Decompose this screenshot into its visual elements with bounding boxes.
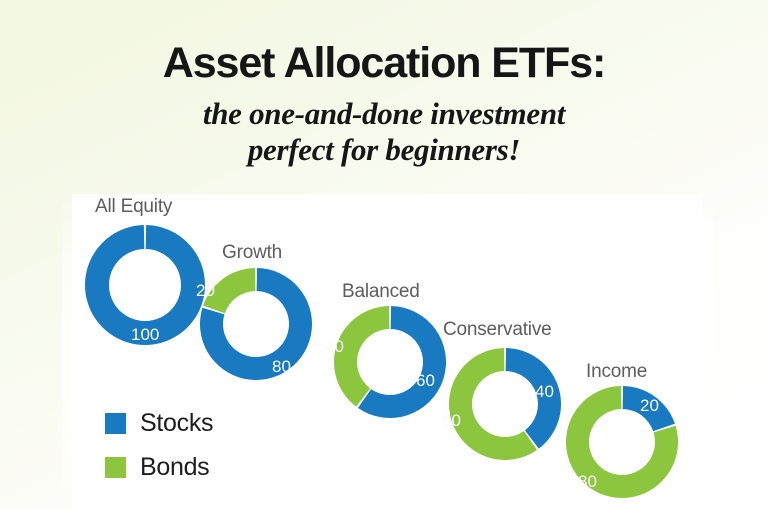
donut-value-bonds-income: 80 bbox=[578, 472, 597, 492]
donut-title-conservative: Conservative bbox=[443, 319, 551, 341]
donut-title-all-equity: All Equity bbox=[95, 196, 172, 218]
donut-value-stocks-all-equity: 100 bbox=[131, 325, 159, 345]
legend-swatch-bonds-icon bbox=[105, 457, 126, 478]
donut-title-income: Income bbox=[586, 361, 647, 383]
page-title: Asset Allocation ETFs: bbox=[0, 38, 768, 88]
donut-title-balanced: Balanced bbox=[342, 281, 420, 303]
donut-value-stocks-income: 20 bbox=[640, 396, 659, 416]
legend-label: Stocks bbox=[140, 409, 213, 438]
donut-value-stocks-growth: 80 bbox=[272, 357, 291, 377]
donut-value-bonds-balanced: 40 bbox=[325, 337, 344, 357]
heading-block: Asset Allocation ETFs: the one-and-done … bbox=[0, 38, 768, 168]
donut-chart-balanced bbox=[330, 302, 450, 422]
donut-title-growth: Growth bbox=[222, 242, 282, 264]
legend-swatch-stocks-icon bbox=[105, 413, 126, 434]
donut-chart-conservative bbox=[445, 344, 565, 464]
legend-item-stocks[interactable]: Stocks bbox=[105, 407, 213, 439]
donut-value-stocks-balanced: 60 bbox=[416, 371, 435, 391]
infographic-canvas: Asset Allocation ETFs: the one-and-done … bbox=[0, 0, 768, 510]
subtitle-line-2: perfect for beginners! bbox=[0, 132, 768, 168]
donut-value-bonds-conservative: 60 bbox=[442, 411, 461, 431]
legend-item-bonds[interactable]: Bonds bbox=[105, 451, 213, 483]
legend-label: Bonds bbox=[140, 453, 209, 482]
chart-legend: StocksBonds bbox=[105, 407, 213, 495]
donut-value-stocks-conservative: 40 bbox=[535, 382, 554, 402]
subtitle-line-1: the one-and-done investment bbox=[0, 96, 768, 132]
donut-value-bonds-growth: 20 bbox=[196, 281, 215, 301]
